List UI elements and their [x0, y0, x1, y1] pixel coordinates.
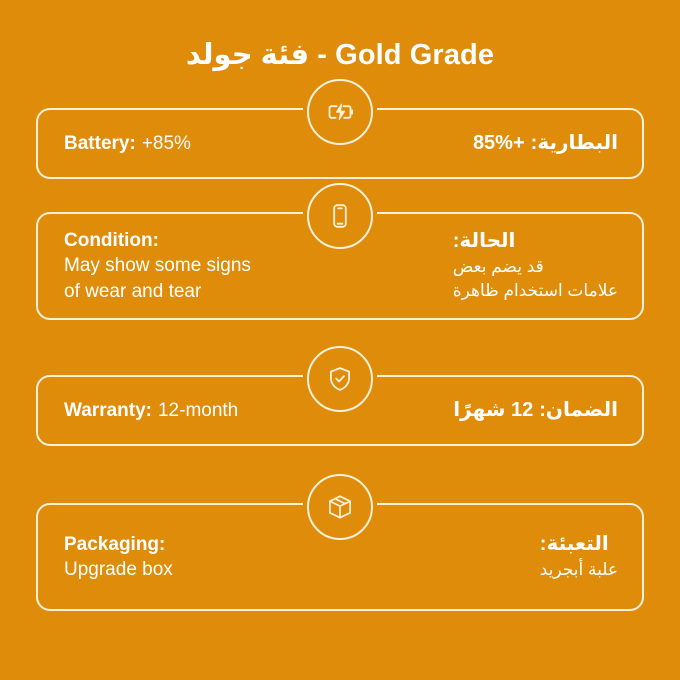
condition-ar-value-line1: قد يضم بعض — [453, 255, 544, 280]
smartphone-icon — [307, 183, 373, 249]
packaging-en-value: Upgrade box — [64, 557, 173, 582]
battery-en-label: Battery: — [64, 131, 136, 156]
condition-ar-text: الحالة: قد يضم بعض علامات استخدام ظاهرة — [453, 228, 622, 304]
battery-ar-value: +85% — [473, 130, 525, 157]
spec-card-battery: Battery: +85% البطارية: +85% — [0, 108, 680, 179]
battery-en-value: +85% — [142, 131, 191, 156]
warranty-ar-text: الضمان: 12 شهرًا — [453, 397, 622, 424]
battery-ar-label: البطارية: — [531, 130, 618, 157]
packaging-ar-text: التعبئة: علبة أبجريد — [540, 531, 622, 582]
condition-en-value-line1: May show some signs — [64, 253, 251, 278]
spec-card-condition-body: Condition: May show some signs of wear a… — [36, 212, 644, 320]
package-box-icon — [307, 474, 373, 540]
spec-card-packaging: Packaging: Upgrade box التعبئة: علبة أبج… — [0, 503, 680, 611]
condition-ar-label: الحالة: — [453, 228, 516, 255]
spec-card-packaging-body: Packaging: Upgrade box التعبئة: علبة أبج… — [36, 503, 644, 611]
packaging-en-text: Packaging: Upgrade box — [58, 532, 173, 582]
warranty-ar-value: 12 شهرًا — [453, 397, 533, 424]
shield-check-icon — [307, 346, 373, 412]
spec-card-warranty: Warranty: 12-month الضمان: 12 شهرًا — [0, 375, 680, 446]
packaging-ar-label: التعبئة: — [540, 531, 609, 558]
warranty-en-label: Warranty: — [64, 398, 152, 423]
spec-card-list: Battery: +85% البطارية: +85% — [0, 108, 680, 611]
battery-charging-icon — [307, 79, 373, 145]
condition-en-label: Condition: — [64, 228, 159, 253]
condition-ar-value-line2: علامات استخدام ظاهرة — [453, 279, 618, 304]
gold-grade-infographic: Gold Grade - فئة جولد Battery: — [0, 0, 680, 680]
warranty-ar-label: الضمان: — [539, 397, 618, 424]
warranty-en-value: 12-month — [158, 398, 238, 423]
condition-en-value-line2: of wear and tear — [64, 279, 201, 304]
warranty-en-text: Warranty: 12-month — [58, 398, 238, 423]
condition-en-text: Condition: May show some signs of wear a… — [58, 228, 251, 303]
page-title-text: Gold Grade - فئة جولد — [186, 37, 494, 72]
packaging-ar-value: علبة أبجريد — [540, 558, 618, 583]
packaging-en-label: Packaging: — [64, 532, 165, 557]
spec-card-battery-body: Battery: +85% البطارية: +85% — [36, 108, 644, 179]
spec-card-warranty-body: Warranty: 12-month الضمان: 12 شهرًا — [36, 375, 644, 446]
spec-card-condition: Condition: May show some signs of wear a… — [0, 212, 680, 320]
battery-en-text: Battery: +85% — [58, 131, 191, 156]
battery-ar-text: البطارية: +85% — [473, 130, 622, 157]
